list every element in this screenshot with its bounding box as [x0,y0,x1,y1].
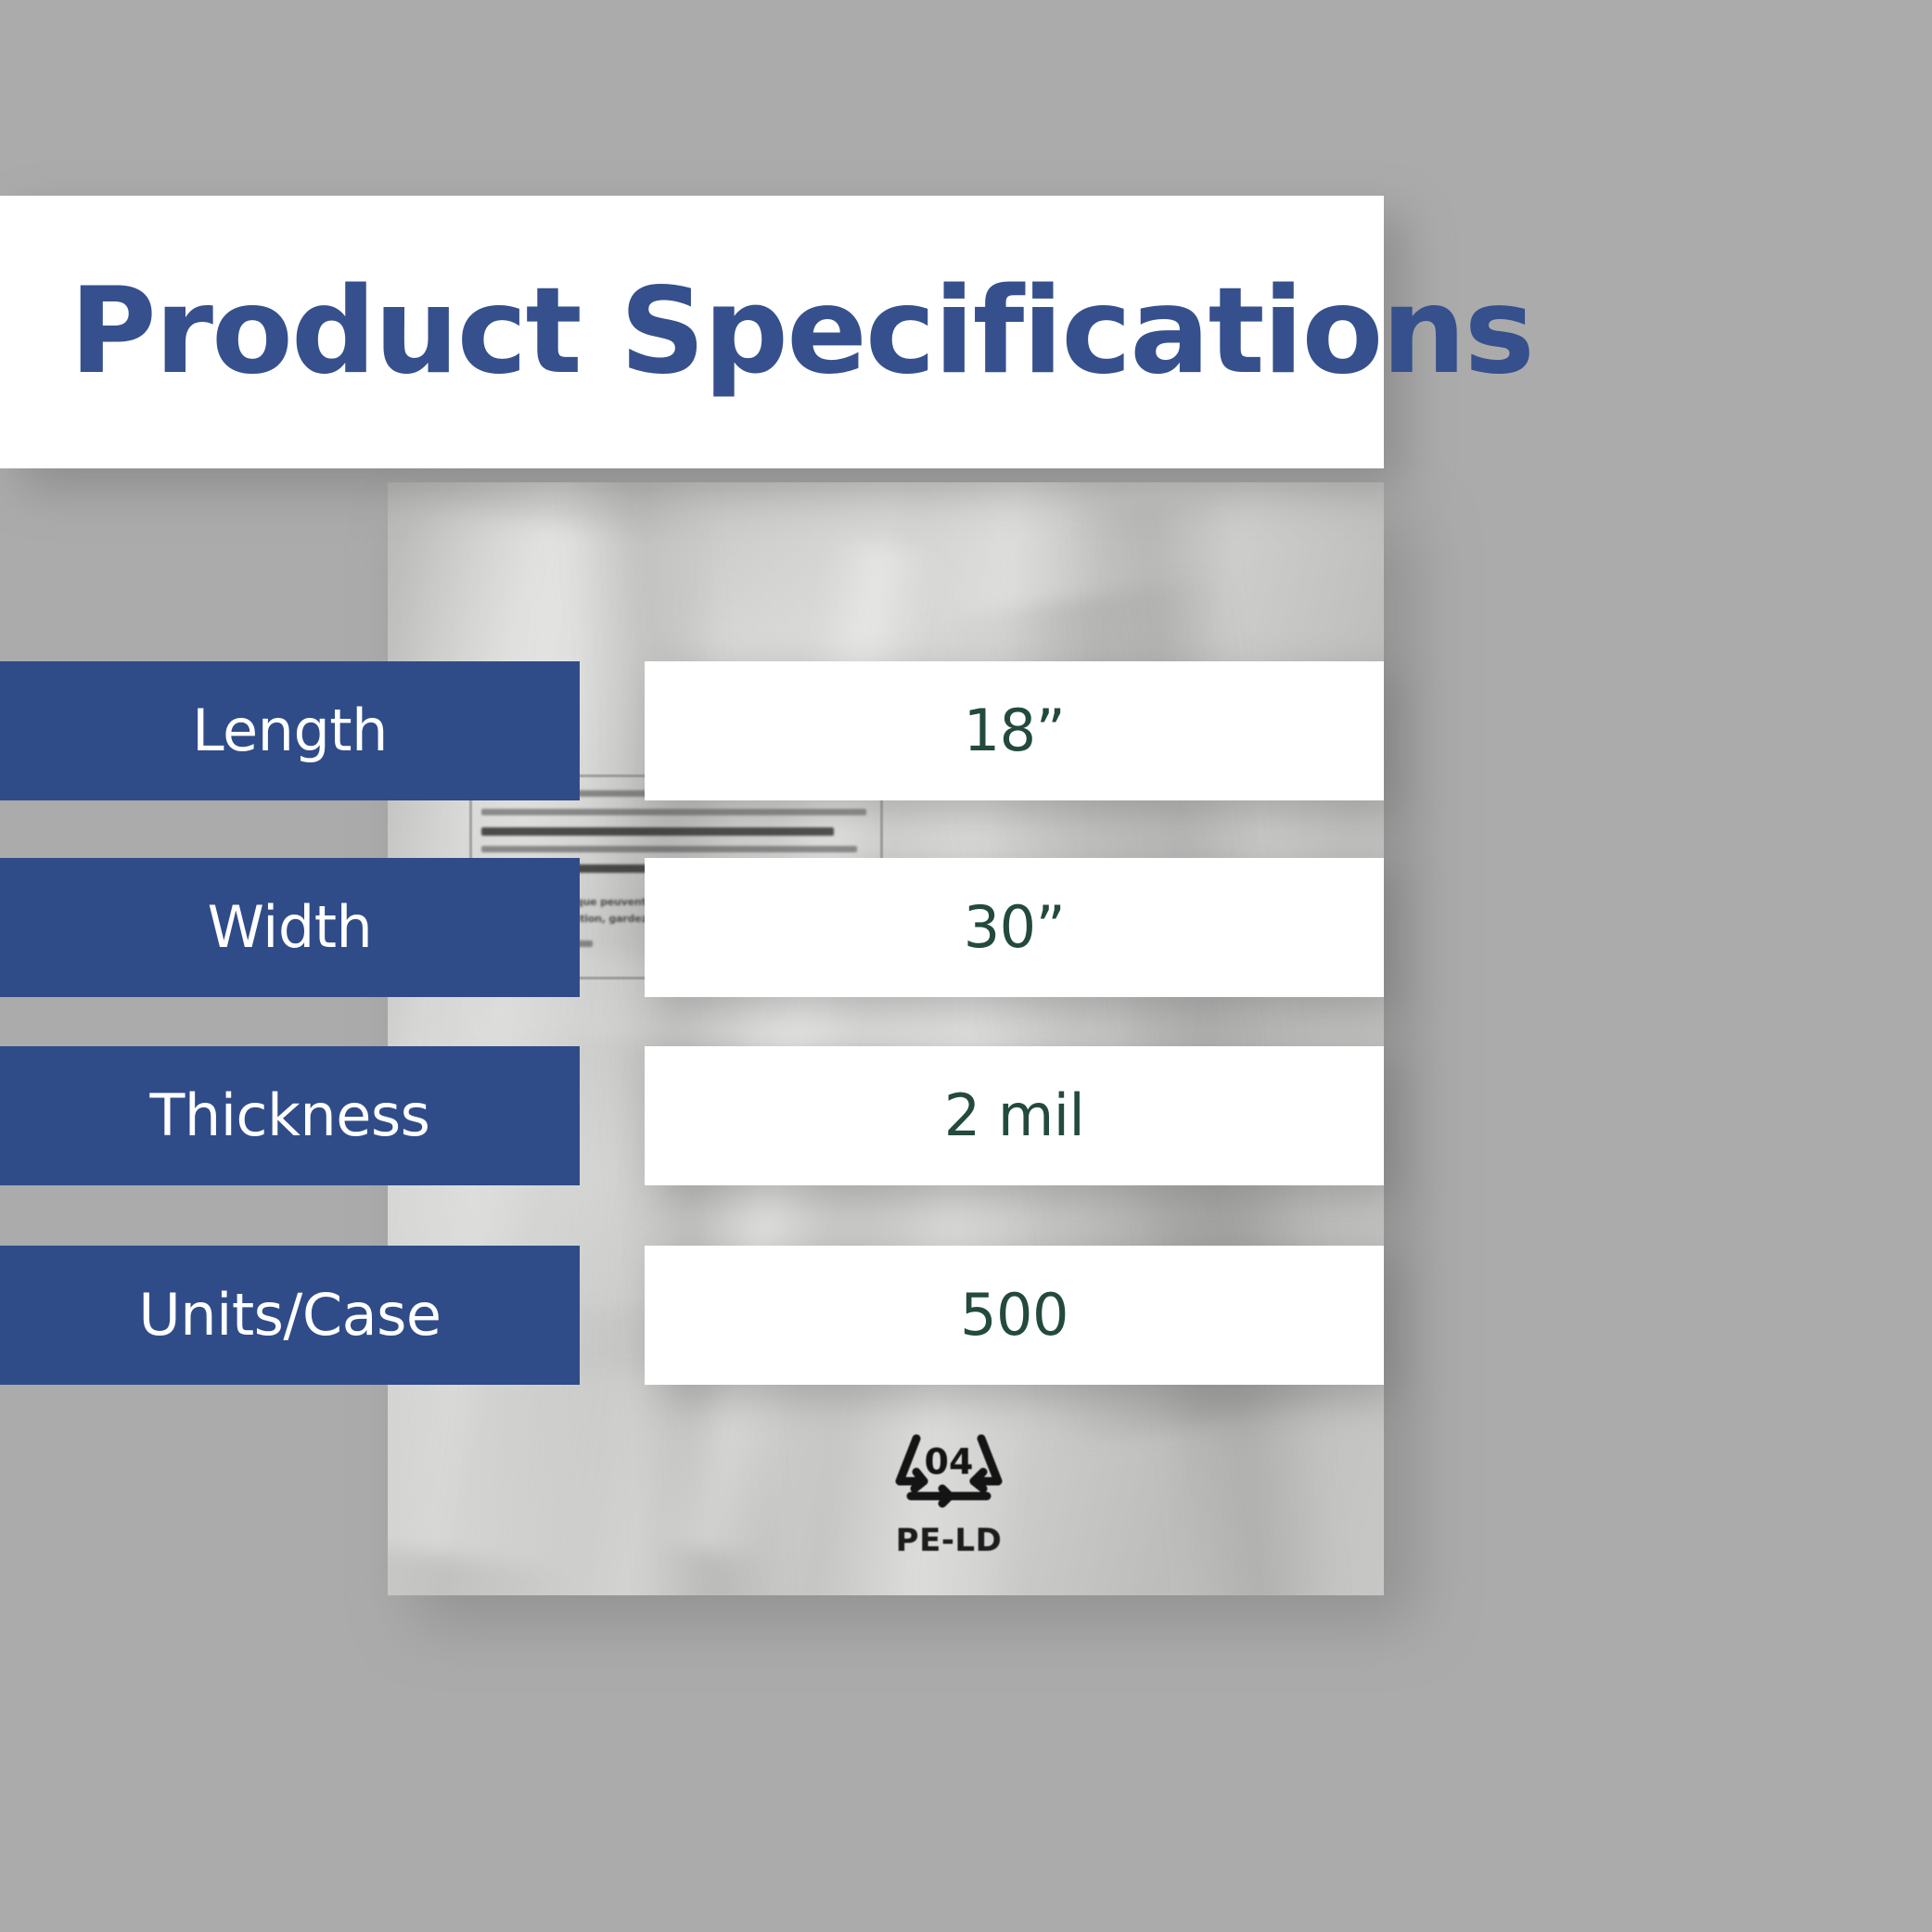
spec-label-units-per-case: Units/Case [0,1246,580,1385]
recycling-code-number: 04 [925,1441,974,1482]
spec-value-text: 18” [964,702,1066,760]
spec-value-units-per-case: 500 [645,1246,1384,1385]
recycling-material-label: PE-LD [889,1522,1009,1559]
spec-value-text: 30” [964,899,1066,956]
spec-label-width: Width [0,858,580,997]
spec-label-text: Units/Case [138,1286,441,1344]
spec-label-text: Length [192,702,388,760]
spec-value-text: 500 [960,1286,1068,1344]
spec-label-length: Length [0,661,580,800]
spec-value-width: 30” [645,858,1384,997]
spec-label-text: Thickness [150,1087,430,1145]
spec-label-thickness: Thickness [0,1046,580,1185]
spec-value-length: 18” [645,661,1384,800]
spec-value-text: 2 mil [944,1087,1085,1145]
header-band: Product Specifications [0,196,1384,468]
product-photo: Les sacs en plastique peuvent être dange… [388,482,1384,1595]
spec-label-text: Width [208,899,373,956]
recycling-symbol-icon: 04 PE-LD [889,1424,1009,1559]
infographic-canvas: Les sacs en plastique peuvent être dange… [0,0,1932,1932]
page-title: Product Specifications [70,273,1533,391]
spec-value-thickness: 2 mil [645,1046,1384,1185]
